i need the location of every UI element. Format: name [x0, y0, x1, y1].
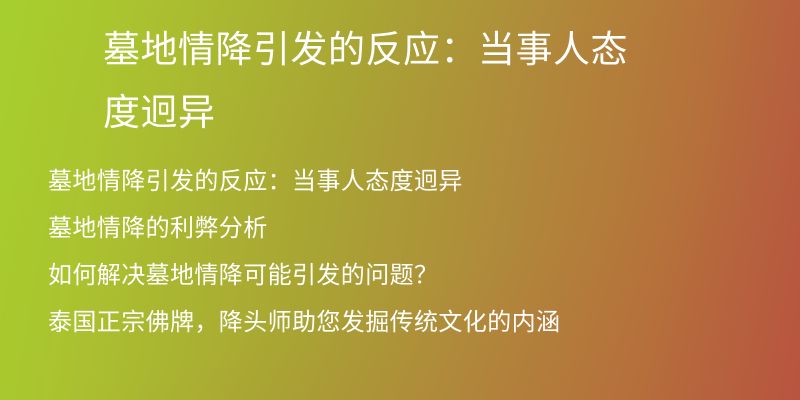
body-line-1: 墓地情降引发的反应：当事人态度迥异	[48, 158, 768, 205]
title-line-2: 度迥异	[103, 81, 763, 144]
title-line-1: 墓地情降引发的反应：当事人态	[103, 18, 763, 81]
gradient-card: 墓地情降引发的反应：当事人态 度迥异 墓地情降引发的反应：当事人态度迥异 墓地情…	[0, 0, 800, 400]
page-title: 墓地情降引发的反应：当事人态 度迥异	[103, 18, 763, 144]
body-line-3: 如何解决墓地情降可能引发的问题？	[48, 252, 768, 299]
body-line-4: 泰国正宗佛牌，降头师助您发掘传统文化的内涵	[48, 299, 768, 346]
body-list: 墓地情降引发的反应：当事人态度迥异 墓地情降的利弊分析 如何解决墓地情降可能引发…	[48, 158, 768, 346]
body-line-2: 墓地情降的利弊分析	[48, 205, 768, 252]
